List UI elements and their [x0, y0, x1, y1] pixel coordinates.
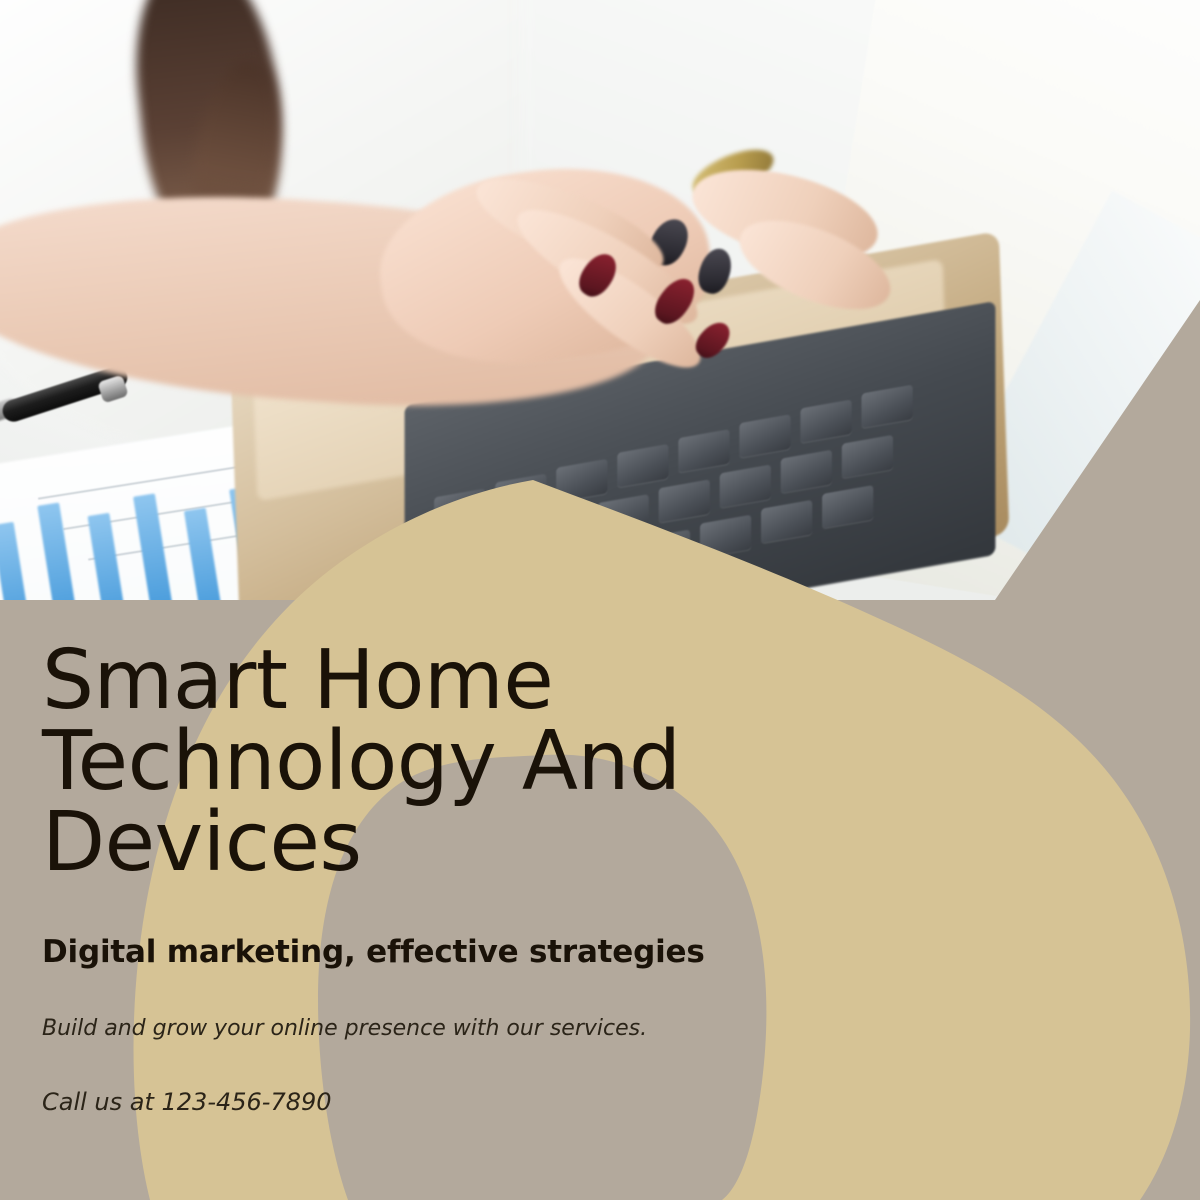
subheadline: Digital marketing, effective strategies — [42, 884, 842, 971]
poster-copy-block: Smart Home Technology And Devices Digita… — [42, 640, 842, 1118]
social-media-poster: Smart Home Technology And Devices Digita… — [0, 0, 1200, 1200]
tagline-text: Build and grow your online presence with… — [42, 971, 842, 1044]
page-title: Smart Home Technology And Devices — [42, 640, 842, 884]
contact-phone-text: Call us at 123-456-7890 — [42, 1043, 842, 1118]
